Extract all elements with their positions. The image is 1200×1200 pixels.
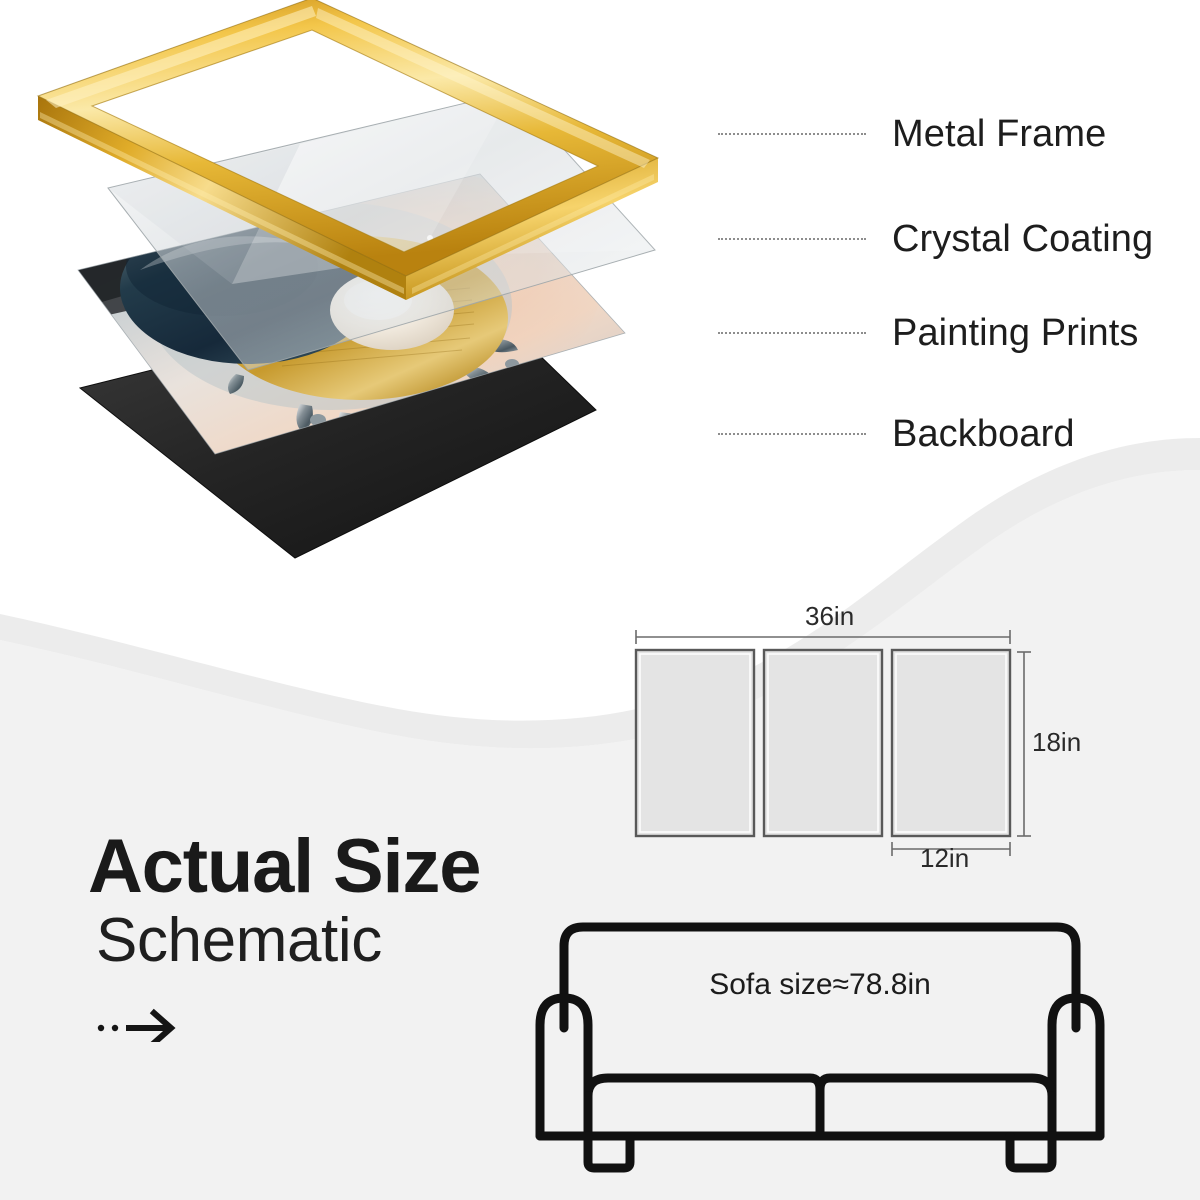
size-schematic: 36in 18in 12in [600, 595, 1120, 895]
layer-callout-backboard: Backboard [718, 411, 1075, 457]
dimension-label-panel-width: 12in [920, 843, 969, 874]
layer-label-painting-prints: Painting Prints [892, 314, 1139, 352]
panel-group [636, 650, 1010, 836]
layer-label-crystal-coating: Crystal Coating [892, 220, 1153, 258]
sofa-outline-icon [520, 900, 1120, 1190]
leader-line-icon [718, 332, 866, 334]
dotted-arrow-right-icon [96, 1008, 188, 1042]
dimension-line-total-width [636, 630, 1010, 644]
infographic-page: Metal Frame Crystal Coating Painting Pri… [0, 0, 1200, 1200]
leader-line-icon [718, 433, 866, 435]
sofa-size-label: Sofa size≈78.8in [520, 968, 1120, 1002]
dimension-line-height [1017, 652, 1031, 836]
page-subtitle: Schematic [96, 908, 480, 975]
panel-2 [764, 650, 882, 836]
layer-callout-metal-frame: Metal Frame [718, 111, 1106, 157]
sofa-reference: Sofa size≈78.8in [520, 900, 1120, 1190]
layer-label-metal-frame: Metal Frame [892, 115, 1106, 153]
layer-label-backboard: Backboard [892, 415, 1075, 453]
dimension-label-total-width: 36in [805, 601, 854, 632]
layer-callout-painting-prints: Painting Prints [718, 310, 1139, 356]
panel-1 [636, 650, 754, 836]
leader-line-icon [718, 133, 866, 135]
leader-line-icon [718, 238, 866, 240]
exploded-product-illustration [0, 0, 700, 608]
panel-3 [892, 650, 1010, 836]
headline-block: Actual Size Schematic [88, 828, 480, 1047]
page-title: Actual Size [88, 828, 480, 906]
dimension-label-height: 18in [1032, 727, 1081, 758]
layer-callout-crystal-coating: Crystal Coating [718, 216, 1153, 262]
